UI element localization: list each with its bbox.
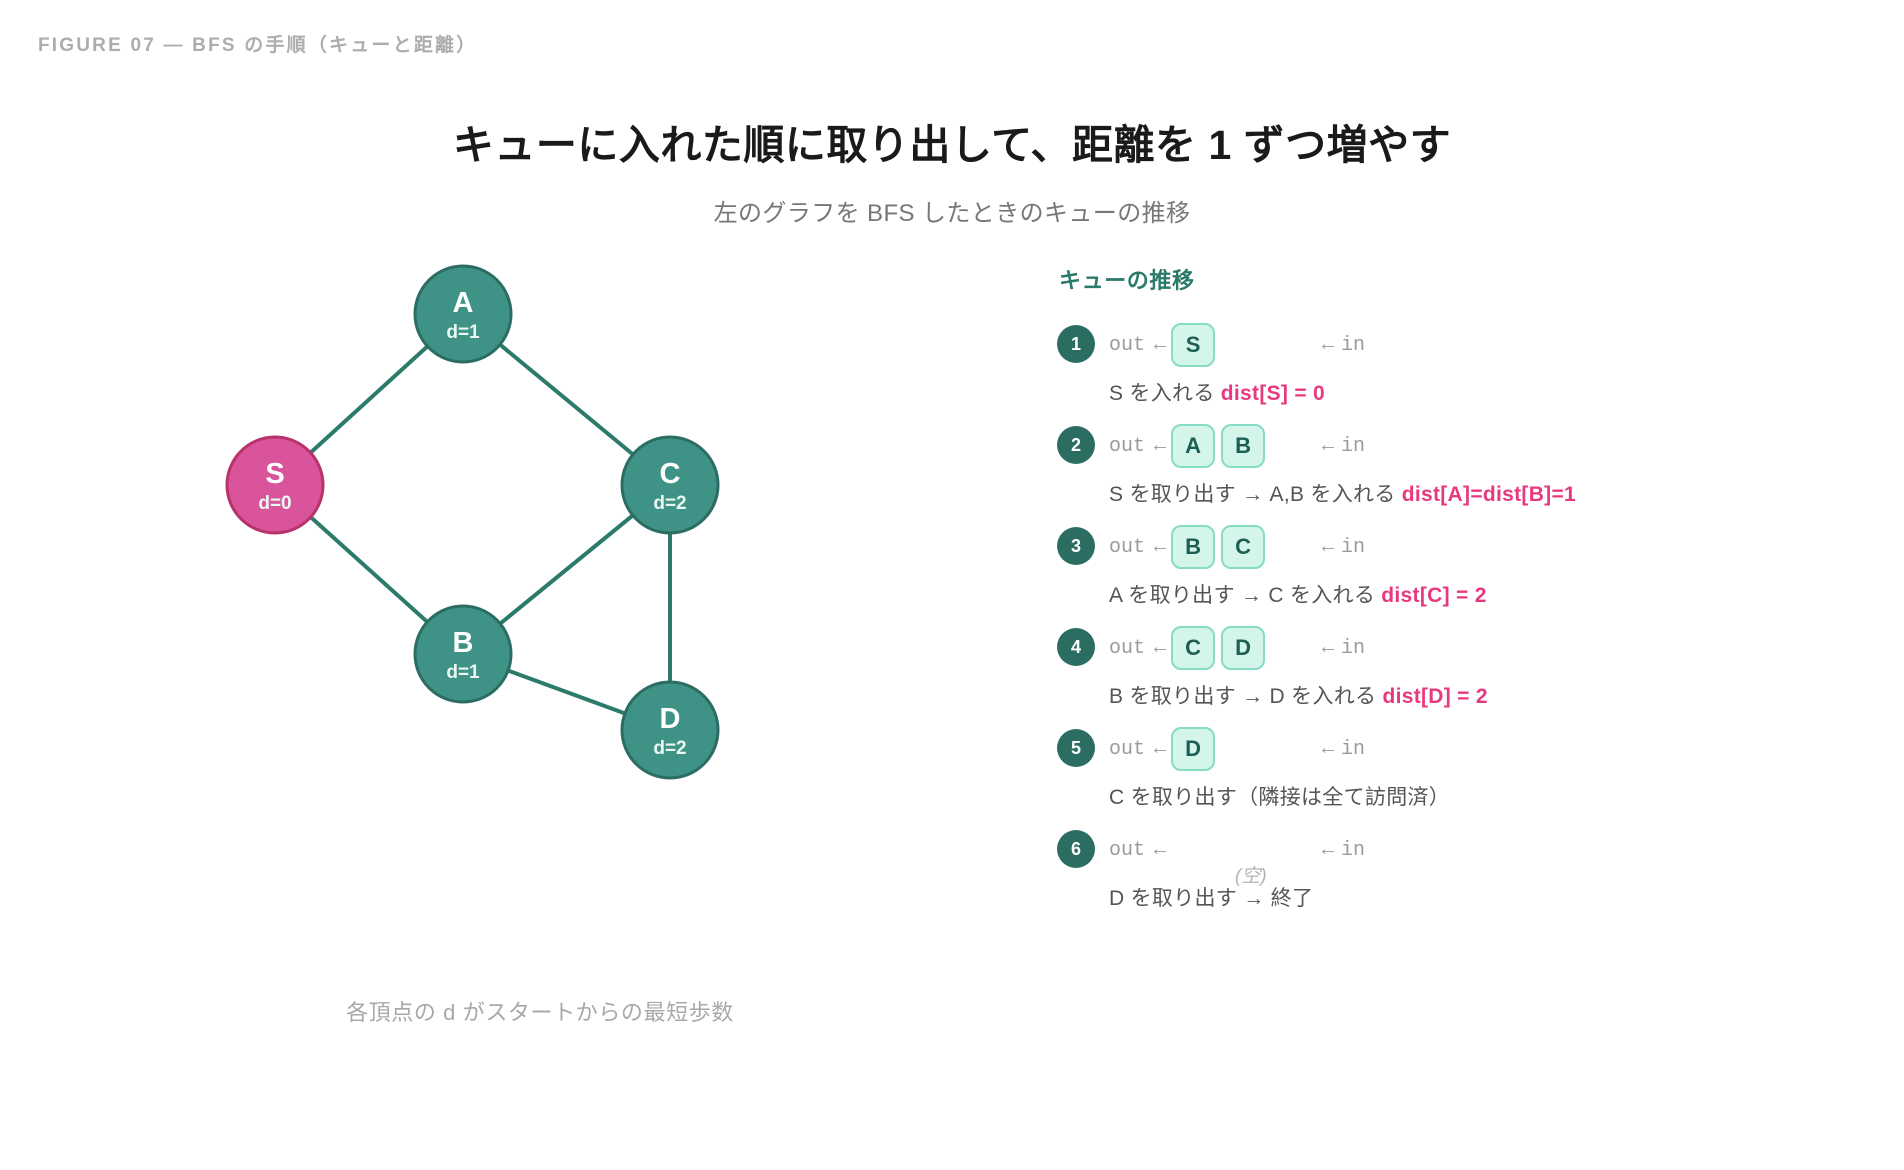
step-distance-highlight: dist[D] = 2: [1382, 685, 1487, 708]
graph-node-C[interactable]: Cd=2: [622, 437, 718, 533]
queue-cell-D[interactable]: D: [1221, 626, 1265, 670]
node-label-B: B: [453, 627, 474, 659]
queue-step: 2out←AB←inS を取り出す → A,B を入れる dist[A]=dis…: [1057, 424, 1857, 508]
queue-slots: AB: [1171, 424, 1313, 468]
graph-panel: Ad=1Sd=0Cd=2Bd=1Dd=2 各頂点の d がスタートからの最短歩数: [110, 260, 970, 1060]
step-distance-highlight: dist[S] = 0: [1221, 382, 1325, 405]
queue-out-arrow-icon: ←: [1154, 738, 1166, 761]
step-description-text: A を取り出す → C を入れる: [1109, 584, 1381, 607]
step-description: C を取り出す（隣接は全て訪問済）: [1109, 781, 1857, 811]
graph-caption: 各頂点の d がスタートからの最短歩数: [110, 995, 970, 1027]
queue-step: 3out←BC←inA を取り出す → C を入れる dist[C] = 2: [1057, 525, 1857, 609]
graph-node-layer: Ad=1Sd=0Cd=2Bd=1Dd=2: [227, 266, 718, 778]
queue-row: out←AB←in: [1109, 424, 1857, 468]
step-body: out←BC←inA を取り出す → C を入れる dist[C] = 2: [1109, 525, 1857, 609]
graph-node-B[interactable]: Bd=1: [415, 606, 511, 702]
step-distance-highlight: dist[A]=dist[B]=1: [1402, 483, 1576, 506]
queue-slots: BC: [1171, 525, 1313, 569]
queue-in-label: in: [1341, 839, 1365, 862]
queue-out-label: out: [1109, 334, 1145, 357]
step-description-text: S を取り出す → A,B を入れる: [1109, 483, 1402, 506]
queue-out-arrow-icon: ←: [1154, 435, 1166, 458]
node-distance-C: d=2: [653, 493, 686, 514]
node-label-D: D: [660, 703, 681, 735]
step-body: out←CD←inB を取り出す → D を入れる dist[D] = 2: [1109, 626, 1857, 710]
queue-in-arrow-icon: ←: [1322, 839, 1334, 862]
graph-node-A[interactable]: Ad=1: [415, 266, 511, 362]
step-number-badge: 6: [1057, 830, 1095, 868]
queue-cell-C[interactable]: C: [1171, 626, 1215, 670]
title-block: キューに入れた順に取り出して、距離を 1 ずつ増やす 左のグラフを BFS した…: [0, 120, 1904, 228]
queue-panel: キューの推移 1out←S←inS を入れる dist[S] = 02out←A…: [1057, 263, 1857, 929]
queue-out-label: out: [1109, 738, 1145, 761]
step-description: B を取り出す → D を入れる dist[D] = 2: [1109, 680, 1857, 710]
queue-out-label: out: [1109, 435, 1145, 458]
queue-cell-B[interactable]: B: [1221, 424, 1265, 468]
queue-in-arrow-icon: ←: [1322, 334, 1334, 357]
step-number-badge: 3: [1057, 527, 1095, 565]
queue-panel-heading: キューの推移: [1059, 263, 1857, 295]
queue-out-arrow-icon: ←: [1154, 334, 1166, 357]
queue-cell-D[interactable]: D: [1171, 727, 1215, 771]
step-body: out←S←inS を入れる dist[S] = 0: [1109, 323, 1857, 407]
node-distance-S: d=0: [258, 493, 291, 514]
queue-row: out←D←in: [1109, 727, 1857, 771]
queue-step: 5out←D←inC を取り出す（隣接は全て訪問済）: [1057, 727, 1857, 811]
queue-step: 1out←S←inS を入れる dist[S] = 0: [1057, 323, 1857, 407]
queue-row: out←CD←in: [1109, 626, 1857, 670]
queue-empty-marker: (空): [1235, 861, 1267, 888]
step-body: out←AB←inS を取り出す → A,B を入れる dist[A]=dist…: [1109, 424, 1857, 508]
queue-in-label: in: [1341, 334, 1365, 357]
step-distance-highlight: dist[C] = 2: [1381, 584, 1486, 607]
queue-cell-S[interactable]: S: [1171, 323, 1215, 367]
queue-cell-A[interactable]: A: [1171, 424, 1215, 468]
node-distance-A: d=1: [446, 322, 480, 343]
queue-step: 4out←CD←inB を取り出す → D を入れる dist[D] = 2: [1057, 626, 1857, 710]
queue-row: out←(空)←in: [1109, 828, 1857, 872]
node-label-S: S: [265, 458, 284, 490]
queue-out-label: out: [1109, 536, 1145, 559]
queue-in-label: in: [1341, 738, 1365, 761]
queue-steps-list: 1out←S←inS を入れる dist[S] = 02out←AB←inS を…: [1057, 323, 1857, 912]
queue-out-label: out: [1109, 637, 1145, 660]
queue-step: 6out←(空)←inD を取り出す → 終了: [1057, 828, 1857, 912]
step-number-badge: 4: [1057, 628, 1095, 666]
node-label-A: A: [453, 287, 474, 319]
step-description: S を入れる dist[S] = 0: [1109, 377, 1857, 407]
step-description-text: S を入れる: [1109, 382, 1221, 405]
queue-slots: D: [1171, 727, 1313, 771]
page-subtitle: 左のグラフを BFS したときのキューの推移: [0, 193, 1904, 228]
step-body: out←(空)←inD を取り出す → 終了: [1109, 828, 1857, 912]
step-description-text: D を取り出す → 終了: [1109, 887, 1313, 910]
node-label-C: C: [660, 458, 681, 490]
queue-in-label: in: [1341, 637, 1365, 660]
node-distance-B: d=1: [446, 662, 480, 683]
bfs-graph-svg: Ad=1Sd=0Cd=2Bd=1Dd=2: [110, 260, 970, 980]
queue-out-arrow-icon: ←: [1154, 536, 1166, 559]
step-number-badge: 2: [1057, 426, 1095, 464]
step-number-badge: 5: [1057, 729, 1095, 767]
node-distance-D: d=2: [653, 738, 686, 759]
queue-in-label: in: [1341, 435, 1365, 458]
step-description-text: B を取り出す → D を入れる: [1109, 685, 1382, 708]
step-body: out←D←inC を取り出す（隣接は全て訪問済）: [1109, 727, 1857, 811]
queue-in-arrow-icon: ←: [1322, 536, 1334, 559]
step-description: S を取り出す → A,B を入れる dist[A]=dist[B]=1: [1109, 478, 1857, 508]
queue-in-arrow-icon: ←: [1322, 435, 1334, 458]
queue-out-arrow-icon: ←: [1154, 637, 1166, 660]
queue-row: out←S←in: [1109, 323, 1857, 367]
queue-row: out←BC←in: [1109, 525, 1857, 569]
queue-out-arrow-icon: ←: [1154, 839, 1166, 862]
queue-in-arrow-icon: ←: [1322, 637, 1334, 660]
queue-out-label: out: [1109, 839, 1145, 862]
figure-label: FIGURE 07 — BFS の手順（キューと距離）: [38, 30, 477, 57]
step-number-badge: 1: [1057, 325, 1095, 363]
queue-in-label: in: [1341, 536, 1365, 559]
queue-cell-B[interactable]: B: [1171, 525, 1215, 569]
graph-node-S[interactable]: Sd=0: [227, 437, 323, 533]
graph-node-D[interactable]: Dd=2: [622, 682, 718, 778]
step-description: A を取り出す → C を入れる dist[C] = 2: [1109, 579, 1857, 609]
queue-in-arrow-icon: ←: [1322, 738, 1334, 761]
page-title: キューに入れた順に取り出して、距離を 1 ずつ増やす: [0, 120, 1904, 171]
queue-cell-C[interactable]: C: [1221, 525, 1265, 569]
step-description-text: C を取り出す（隣接は全て訪問済）: [1109, 786, 1450, 809]
queue-slots: S: [1171, 323, 1313, 367]
queue-slots: CD: [1171, 626, 1313, 670]
step-description: D を取り出す → 終了: [1109, 882, 1857, 912]
